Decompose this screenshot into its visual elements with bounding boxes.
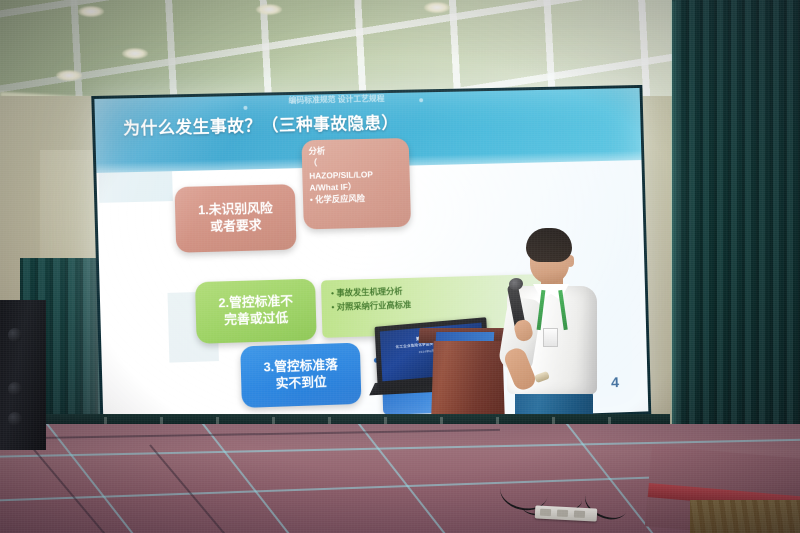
speaker-badge	[543, 328, 558, 347]
downlight-icon	[424, 2, 450, 13]
floor-grid-line	[195, 424, 357, 533]
slide-box-control-standard-inadequate: 2.管控标准不 完善或过低	[195, 279, 317, 344]
slide-box-risk-not-identified: 1.未识别风险 或者要求	[174, 184, 296, 253]
downlight-icon	[122, 48, 148, 59]
power-socket	[540, 509, 551, 517]
pa-speaker-stack	[0, 300, 46, 450]
stage-curtain-right	[672, 0, 800, 470]
speaker-cone-icon	[8, 412, 22, 426]
downlight-icon	[256, 4, 282, 15]
green-bullet-2: • 对照采纳行业高标准	[331, 298, 411, 315]
analysis-line-4: A/What IF）	[309, 181, 356, 194]
slide-box-standard-not-implemented: 3.管控标准落 实不到位	[240, 343, 361, 408]
downlight-icon	[56, 70, 82, 81]
analysis-line-2: （	[309, 157, 318, 169]
slide-analysis-box: 分析 （ HAZOP/SIL/LOP A/What IF） • 化学反应风险	[301, 138, 411, 230]
speaker-cone-icon	[8, 328, 22, 342]
speaker-cone-icon	[8, 382, 22, 396]
power-socket	[574, 510, 585, 518]
floor-carpet	[690, 500, 800, 533]
analysis-line-1: 分析	[308, 145, 325, 158]
slide-accent-block	[98, 171, 172, 203]
band-dot-icon	[243, 106, 247, 110]
power-socket	[557, 510, 568, 518]
curtain-edge-highlight	[672, 0, 676, 470]
podium-placard	[436, 332, 494, 341]
band-dot-icon	[419, 98, 423, 102]
analysis-line-3: HAZOP/SIL/LOP	[309, 168, 373, 182]
conference-photo-scene: 编码标准规范 设计工艺规程 为什么发生事故？（三种事故隐患） 1.未识别风险 或…	[0, 0, 800, 533]
floor-seam-line	[0, 429, 500, 440]
speaker-hair	[526, 228, 572, 262]
analysis-line-5: • 化学反应风险	[310, 193, 365, 207]
floor-grid-line	[351, 424, 513, 533]
downlight-icon	[78, 6, 104, 17]
